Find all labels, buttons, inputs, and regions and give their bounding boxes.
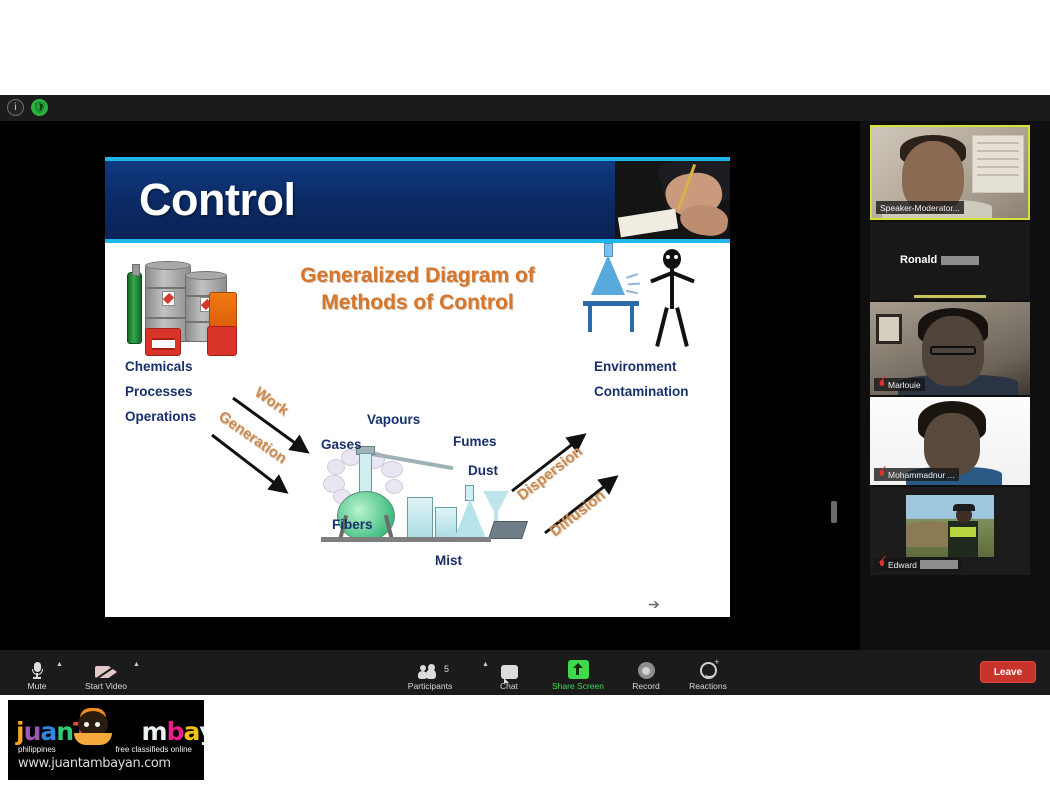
share-screen-icon [568, 660, 589, 679]
bowl-mascot-icon [74, 711, 112, 747]
participant-name-plate: Marlouie [874, 378, 925, 391]
chemical-drums-graphic [123, 248, 243, 358]
receptor-label-0: Environment [594, 359, 689, 374]
participants-icon: 5 [418, 665, 442, 679]
mic-muted-icon [878, 470, 885, 480]
source-label-0: Chemicals [125, 359, 196, 374]
share-screen-button[interactable]: Share Screen [546, 658, 610, 691]
video-options-caret-icon[interactable]: ▲ [133, 661, 140, 668]
slide-title-banner: Control [105, 161, 730, 239]
wm-char-8: a [183, 717, 199, 746]
center-label-mist: Mist [435, 553, 462, 568]
active-speaker-underline [914, 295, 986, 298]
info-icon[interactable]: i [7, 99, 24, 116]
chat-label: Chat [500, 682, 518, 691]
leave-button[interactable]: Leave [980, 661, 1036, 683]
mic-muted-icon [878, 560, 885, 570]
share-screen-label: Share Screen [552, 682, 604, 691]
meeting-top-bar [0, 95, 1050, 121]
participant-name: Edward [888, 560, 917, 570]
wm-char-6: m [142, 717, 167, 746]
record-button[interactable]: Record [614, 658, 678, 691]
watermark-logo: juanTAmbayan philippines free classified… [8, 700, 204, 780]
start-video-label: Start Video [85, 682, 127, 691]
participants-button[interactable]: 5 Participants [398, 658, 462, 691]
participant-name: Speaker-Moderator... [880, 203, 960, 213]
presentation-slide: Control Generalized Diagram of Methods o… [105, 157, 730, 617]
reactions-icon [700, 662, 717, 679]
redacted-surname [941, 256, 979, 265]
arrow-label-dispersion: Dispersion [514, 443, 586, 504]
wm-char-9: y [199, 717, 204, 746]
record-label: Record [632, 682, 659, 691]
mouse-pointer: ➔ [648, 597, 658, 612]
mute-options-caret-icon[interactable]: ▲ [56, 661, 63, 668]
top-bar-left-icons: i 🛡 [7, 99, 48, 116]
center-label-fumes: Fumes [453, 434, 497, 449]
wm-char-7: b [167, 717, 184, 746]
chat-button[interactable]: Chat [477, 658, 541, 691]
zoom-meeting-window: i 🛡 You are viewing Speaker-Moderator Be… [0, 95, 1050, 695]
wm-char-3: n [56, 717, 73, 746]
center-label-gases: Gases [321, 437, 362, 452]
participant-name-plate: Edward [874, 558, 962, 571]
participants-label: Participants [408, 682, 452, 691]
reactions-button[interactable]: Reactions [676, 658, 740, 691]
slide-body: Generalized Diagram of Methods of Contro… [105, 243, 730, 617]
participant-name: Mohammadnur ... [888, 470, 955, 480]
wm-char-1: u [24, 717, 41, 746]
participants-count: 5 [444, 664, 449, 674]
receptor-label-1: Contamination [594, 384, 689, 399]
meeting-control-bar: Mute ▲ Start Video ▲ 5 Participants ▲ [0, 650, 1050, 695]
camera-off-icon [95, 665, 117, 679]
wm-char-2: a [40, 717, 56, 746]
environment-person-graphic [583, 249, 703, 357]
mic-muted-icon [878, 380, 885, 390]
center-label-fibers: Fibers [332, 517, 373, 532]
side-panel-drag-handle[interactable] [831, 501, 837, 523]
watermark-url: www.juantambayan.com [18, 756, 171, 771]
chat-bubble-icon [501, 665, 518, 679]
center-label-dust: Dust [468, 463, 498, 478]
wm-char-0: j [16, 717, 24, 746]
reactions-label: Reactions [689, 682, 727, 691]
arrow-label-work: Work [251, 384, 291, 419]
encryption-shield-icon[interactable]: 🛡 [31, 99, 48, 116]
participant-name-plate: Speaker-Moderator... [876, 201, 964, 214]
start-video-button[interactable]: Start Video [74, 658, 138, 691]
hand-writing-photo [615, 161, 730, 239]
microphone-icon [33, 662, 42, 679]
screenshot-root: i 🛡 You are viewing Speaker-Moderator Be… [0, 0, 1050, 788]
mute-label: Mute [28, 682, 47, 691]
watermark-tagline-left: philippines [18, 745, 56, 754]
page-title: Control [139, 174, 295, 226]
lab-apparatus-graphic [315, 433, 515, 563]
record-icon [638, 662, 655, 679]
participant-tile-ronald[interactable]: Ronald [870, 222, 1030, 300]
source-label-2: Operations [125, 409, 196, 424]
arrow-label-diffusion: Diffusion [547, 487, 609, 540]
participant-name: Marlouie [888, 380, 921, 390]
receptor-labels: Environment Contamination [594, 359, 689, 409]
center-label-vapours: Vapours [367, 412, 420, 427]
watermark-tagline-right: free classifieds online [116, 745, 192, 754]
participant-tile-mohammadnur[interactable]: Mohammadnur ... [870, 397, 1030, 485]
source-label-1: Processes [125, 384, 196, 399]
shared-screen-stage[interactable]: Control Generalized Diagram of Methods o… [0, 121, 860, 650]
participant-tile-speaker-moderator[interactable]: Speaker-Moderator... [870, 125, 1030, 220]
participant-name-plate: Mohammadnur ... [874, 468, 959, 481]
participant-name: Ronald [900, 254, 937, 266]
source-labels: Chemicals Processes Operations [125, 359, 196, 434]
redacted-surname [920, 560, 958, 569]
participants-filmstrip: Speaker-Moderator... Ronald M [860, 121, 1050, 650]
participant-tile-edward[interactable]: Edward [870, 487, 1030, 575]
participant-tile-marlouie[interactable]: Marlouie [870, 302, 1030, 395]
